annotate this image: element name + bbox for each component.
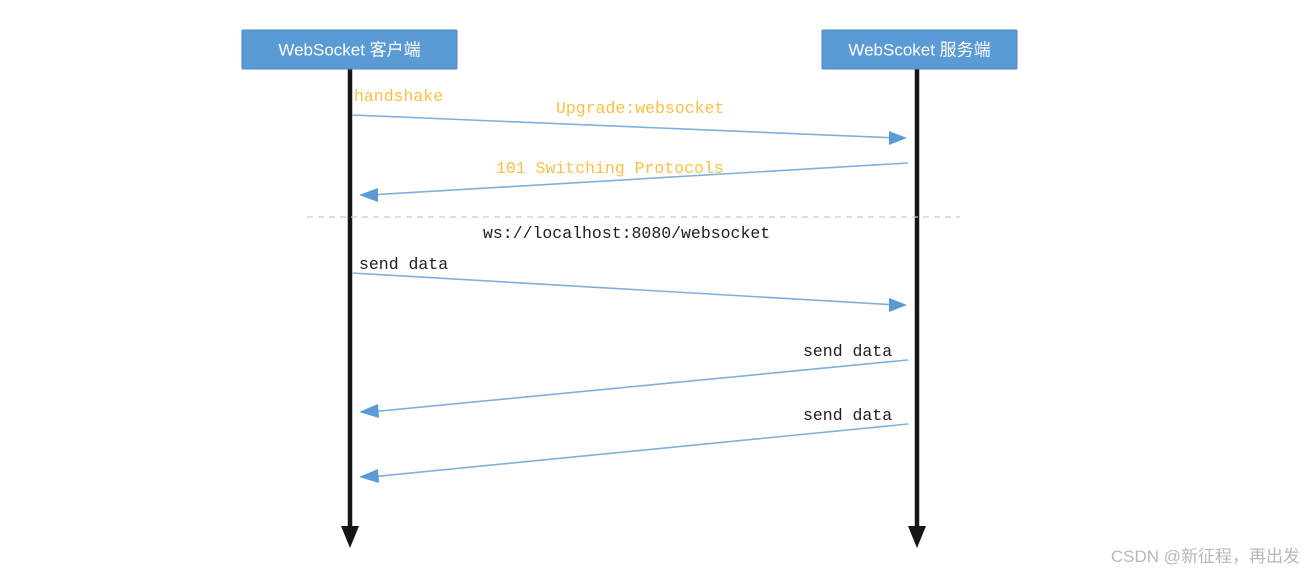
lifeline-server-end-arrow bbox=[908, 526, 926, 548]
lifeline-client-end-arrow bbox=[341, 526, 359, 548]
actor-client-label: WebSocket 客户端 bbox=[278, 40, 420, 59]
message-send-data-1-label: send data bbox=[359, 255, 448, 274]
connection-divider-label: ws://localhost:8080/websocket bbox=[483, 224, 770, 243]
message-send-data-1-arrowhead bbox=[889, 298, 907, 312]
message-send-data-2-arrowhead bbox=[359, 404, 379, 418]
message-send-data-1: send data bbox=[352, 255, 907, 312]
sequence-diagram-canvas: WebSocket 客户端 WebScoket 服务端 Upgrade:webs… bbox=[0, 0, 1308, 575]
message-send-data-3-arrowhead bbox=[359, 469, 379, 483]
lifelines-group bbox=[341, 69, 926, 548]
message-upgrade-websocket-arrowhead bbox=[889, 131, 907, 145]
message-switching-protocols-label: 101 Switching Protocols bbox=[496, 159, 724, 178]
csdn-watermark: CSDN @新征程，再出发 bbox=[1111, 542, 1300, 567]
actor-server-label: WebScoket 服务端 bbox=[848, 40, 990, 59]
message-send-data-3-label: send data bbox=[803, 406, 892, 425]
message-send-data-2-label: send data bbox=[803, 342, 892, 361]
message-upgrade-websocket-line bbox=[352, 115, 897, 138]
message-upgrade-websocket-label: Upgrade:websocket bbox=[556, 99, 724, 118]
message-send-data-2-line bbox=[370, 360, 908, 412]
sequence-diagram-root: WebSocket 客户端 WebScoket 服务端 Upgrade:webs… bbox=[0, 0, 1308, 575]
connection-divider: ws://localhost:8080/websocket bbox=[307, 217, 960, 243]
message-send-data-3-line bbox=[370, 424, 908, 477]
message-send-data-1-line bbox=[352, 273, 897, 305]
message-switching-protocols-arrowhead bbox=[359, 188, 378, 202]
actor-server[interactable]: WebScoket 服务端 bbox=[822, 30, 1017, 69]
handshake-annotation-label: handshake bbox=[354, 87, 443, 106]
actor-client[interactable]: WebSocket 客户端 bbox=[242, 30, 457, 69]
message-switching-protocols: 101 Switching Protocols bbox=[359, 159, 908, 202]
message-send-data-3: send data bbox=[359, 406, 908, 483]
